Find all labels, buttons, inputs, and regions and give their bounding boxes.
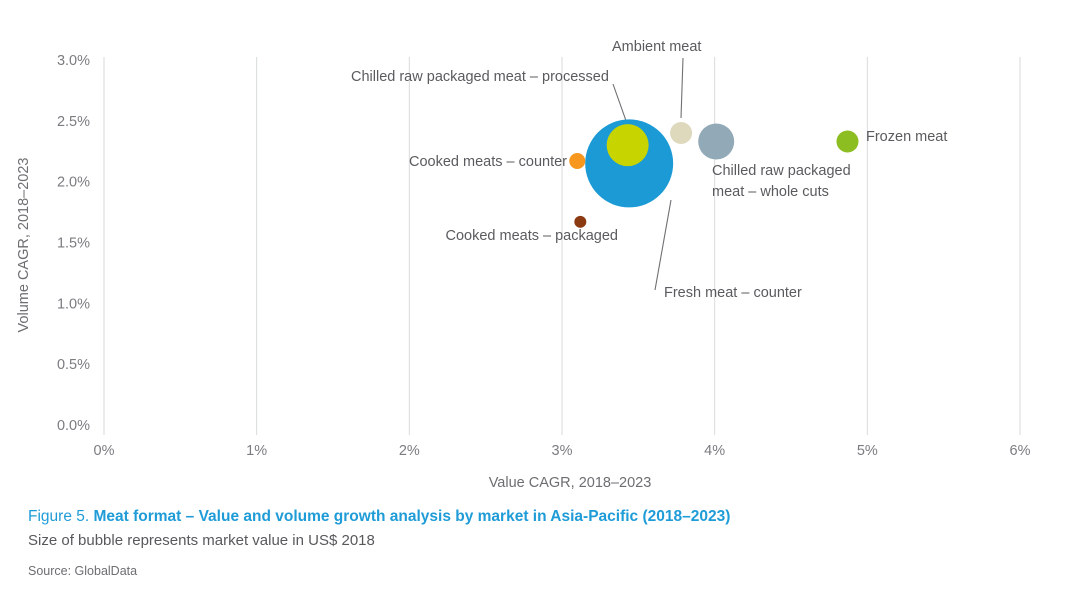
bubble-label-cooked-meats-packaged: Cooked meats – packaged xyxy=(446,228,619,244)
y-axis-title: Volume CAGR, 2018–2023 xyxy=(16,158,32,333)
bubble-chilled-raw-packaged-meat-processed[interactable] xyxy=(607,124,649,166)
chart-svg: 0%1%2%3%4%5%6% 0.0%0.5%1.0%1.5%2.0%2.5%3… xyxy=(0,0,1071,500)
y-tick-label-0: 0.0% xyxy=(57,418,90,434)
leader-line-2 xyxy=(681,58,683,118)
y-tick-label-6: 3.0% xyxy=(57,53,90,69)
bubble-label-cooked-meats-counter: Cooked meats – counter xyxy=(409,154,567,170)
bubble-ambient-meat[interactable] xyxy=(670,122,692,144)
bubble-chart: 0%1%2%3%4%5%6% 0.0%0.5%1.0%1.5%2.0%2.5%3… xyxy=(0,0,1071,500)
x-tick-label-2: 2% xyxy=(399,443,420,459)
y-tick-label-4: 2.0% xyxy=(57,175,90,191)
x-tick-label-4: 4% xyxy=(704,443,725,459)
bubble-label-ambient-meat: Ambient meat xyxy=(612,39,701,55)
x-tick-label-6: 6% xyxy=(1010,443,1031,459)
y-tick-label-5: 2.5% xyxy=(57,114,90,130)
caption-block: Figure 5. Meat format – Value and volume… xyxy=(28,506,1043,579)
x-axis-tick-labels: 0%1%2%3%4%5%6% xyxy=(94,443,1031,459)
x-tick-label-0: 0% xyxy=(94,443,115,459)
figure-subtitle: Size of bubble represents market value i… xyxy=(28,531,1043,551)
y-tick-label-2: 1.0% xyxy=(57,296,90,312)
x-axis-title: Value CAGR, 2018–2023 xyxy=(489,475,652,491)
y-tick-label-1: 0.5% xyxy=(57,357,90,373)
x-tick-label-1: 1% xyxy=(246,443,267,459)
bubble-label-chilled-raw-packaged-meat-whole-cuts-line2: meat – whole cuts xyxy=(712,184,829,200)
bubble-label-chilled-raw-packaged-meat-processed: Chilled raw packaged meat – processed xyxy=(351,69,609,85)
bubble-cooked-meats-packaged[interactable] xyxy=(574,216,586,228)
bubble-frozen-meat[interactable] xyxy=(836,131,858,153)
figure-number: Figure 5. xyxy=(28,508,89,525)
bubble-label-fresh-meat-counter: Fresh meat – counter xyxy=(664,285,802,301)
figure-title: Meat format – Value and volume growth an… xyxy=(93,508,730,525)
figure-source: Source: GlobalData xyxy=(28,563,1043,579)
gridlines-group xyxy=(104,57,1020,435)
x-tick-label-5: 5% xyxy=(857,443,878,459)
figure-caption: Figure 5. Meat format – Value and volume… xyxy=(28,506,1043,527)
y-tick-label-3: 1.5% xyxy=(57,236,90,252)
figure-page: 0%1%2%3%4%5%6% 0.0%0.5%1.0%1.5%2.0%2.5%3… xyxy=(0,0,1071,602)
bubble-cooked-meats-counter[interactable] xyxy=(569,153,585,169)
bubble-label-chilled-raw-packaged-meat-whole-cuts: Chilled raw packaged xyxy=(712,163,851,179)
bubble-label-frozen-meat: Frozen meat xyxy=(866,129,947,145)
leader-line-0 xyxy=(655,200,671,290)
y-axis-tick-labels: 0.0%0.5%1.0%1.5%2.0%2.5%3.0% xyxy=(57,53,90,434)
bubble-chilled-raw-packaged-meat-whole-cuts[interactable] xyxy=(698,124,734,160)
x-tick-label-3: 3% xyxy=(552,443,573,459)
